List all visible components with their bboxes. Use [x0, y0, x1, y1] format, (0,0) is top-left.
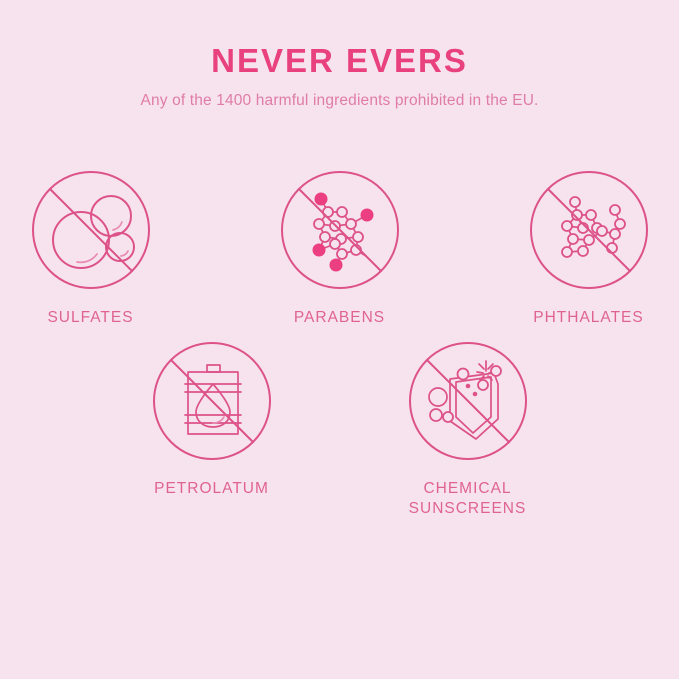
- no-molecule-filled-icon: [278, 168, 402, 292]
- grid-item-label: PARABENS: [294, 308, 385, 327]
- no-molecule-outline-icon: [527, 168, 651, 292]
- grid-item-sulfates: SULFATES: [0, 168, 181, 327]
- no-bubbles-icon: [29, 168, 153, 292]
- grid-item-petrolatum: PETROLATUM: [118, 339, 306, 498]
- grid-item-chemical-sunscreens: CHEMICAL SUNSCREENS: [374, 339, 562, 518]
- grid-item-phthalates: PHTHALATES: [498, 168, 679, 327]
- grid-row-one: SULFATES: [0, 168, 679, 327]
- grid-item-label: CHEMICAL SUNSCREENS: [409, 479, 527, 518]
- ingredient-grid: SULFATES: [0, 168, 679, 518]
- page-subtitle: Any of the 1400 harmful ingredients proh…: [0, 79, 679, 111]
- grid-item-label: SULFATES: [47, 308, 133, 327]
- header: NEVER EVERS Any of the 1400 harmful ingr…: [0, 0, 679, 111]
- grid-item-label: PETROLATUM: [154, 479, 269, 498]
- grid-item-label: PHTHALATES: [533, 308, 644, 327]
- grid-row-two: PETROLATUM: [0, 339, 679, 518]
- page-title: NEVER EVERS: [0, 43, 679, 79]
- no-chemical-sunscreen-icon: [406, 339, 530, 463]
- no-oil-barrel-icon: [150, 339, 274, 463]
- never-evers-infographic: NEVER EVERS Any of the 1400 harmful ingr…: [0, 0, 679, 679]
- grid-item-parabens: PARABENS: [249, 168, 430, 327]
